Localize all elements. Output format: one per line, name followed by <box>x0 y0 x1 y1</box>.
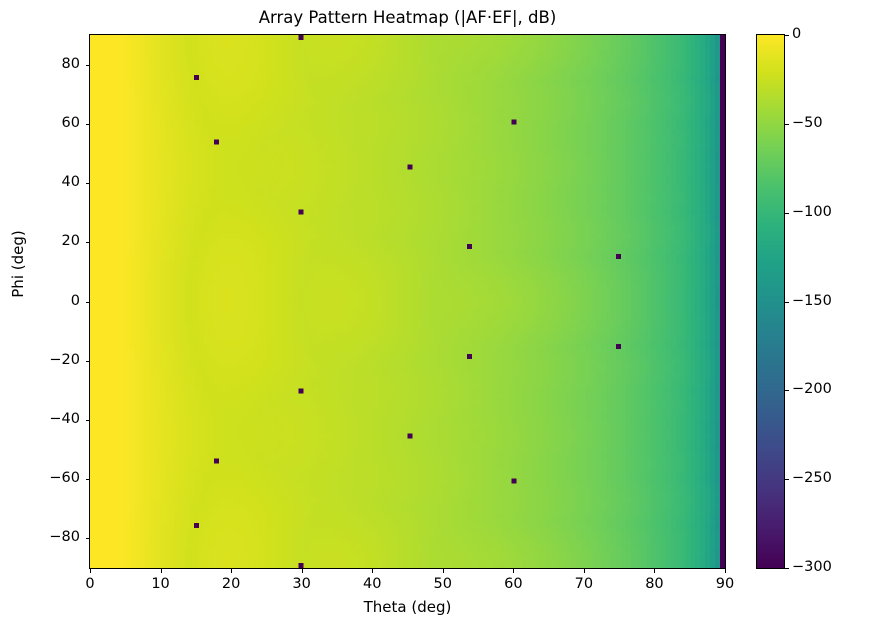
x-tick-label: 50 <box>413 576 473 593</box>
colorbar[interactable] <box>756 34 785 569</box>
y-tick-mark <box>86 361 90 362</box>
y-tick-label: 0 <box>22 293 80 310</box>
x-tick-mark <box>725 569 726 573</box>
heatmap-plot-area[interactable] <box>89 34 726 569</box>
colorbar-tick-mark <box>785 390 789 391</box>
y-tick-mark <box>86 183 90 184</box>
colorbar-tick-label: 0 <box>792 26 801 43</box>
colorbar-tick-label: −100 <box>792 204 832 221</box>
x-tick-mark <box>513 569 514 573</box>
colorbar-tick-label: −150 <box>792 293 832 310</box>
colorbar-tick-mark <box>785 124 789 125</box>
x-tick-mark <box>372 569 373 573</box>
x-tick-mark <box>302 569 303 573</box>
x-tick-label: 0 <box>60 576 120 593</box>
y-tick-mark <box>86 479 90 480</box>
x-tick-mark <box>161 569 162 573</box>
y-tick-label: 20 <box>22 233 80 250</box>
colorbar-tick-label: −300 <box>792 559 832 576</box>
y-tick-label: −60 <box>22 470 80 487</box>
colorbar-tick-mark <box>785 213 789 214</box>
x-tick-mark <box>654 569 655 573</box>
x-tick-label: 40 <box>342 576 402 593</box>
colorbar-tick-mark <box>785 35 789 36</box>
y-tick-mark <box>86 65 90 66</box>
colorbar-tick-mark <box>785 568 789 569</box>
colorbar-gradient <box>757 35 784 568</box>
x-tick-mark <box>90 569 91 573</box>
x-tick-mark <box>584 569 585 573</box>
x-tick-label: 20 <box>201 576 261 593</box>
matplotlib-figure: Array Pattern Heatmap (|AF·EF|, dB) 0102… <box>0 0 885 637</box>
y-tick-label: −80 <box>22 529 80 546</box>
y-tick-label: 80 <box>22 56 80 73</box>
x-tick-mark <box>231 569 232 573</box>
x-tick-label: 90 <box>695 576 755 593</box>
y-tick-mark <box>86 538 90 539</box>
y-tick-label: −20 <box>22 352 80 369</box>
x-tick-label: 80 <box>624 576 684 593</box>
x-tick-label: 60 <box>483 576 543 593</box>
y-tick-mark <box>86 302 90 303</box>
colorbar-tick-label: −250 <box>792 470 832 487</box>
colorbar-tick-mark <box>785 302 789 303</box>
x-tick-label: 70 <box>554 576 614 593</box>
colorbar-tick-label: −200 <box>792 381 832 398</box>
y-axis-label: Phi (deg) <box>9 184 27 344</box>
y-tick-label: −40 <box>22 411 80 428</box>
y-tick-mark <box>86 420 90 421</box>
x-tick-label: 10 <box>131 576 191 593</box>
x-tick-label: 30 <box>272 576 332 593</box>
y-tick-mark <box>86 242 90 243</box>
page-title: Array Pattern Heatmap (|AF·EF|, dB) <box>90 8 725 28</box>
colorbar-tick-label: −50 <box>792 115 823 132</box>
y-tick-label: 60 <box>22 115 80 132</box>
x-axis-label: Theta (deg) <box>90 598 725 616</box>
y-tick-label: 40 <box>22 174 80 191</box>
heatmap-image <box>90 35 725 568</box>
colorbar-tick-mark <box>785 479 789 480</box>
x-tick-mark <box>443 569 444 573</box>
y-tick-mark <box>86 124 90 125</box>
